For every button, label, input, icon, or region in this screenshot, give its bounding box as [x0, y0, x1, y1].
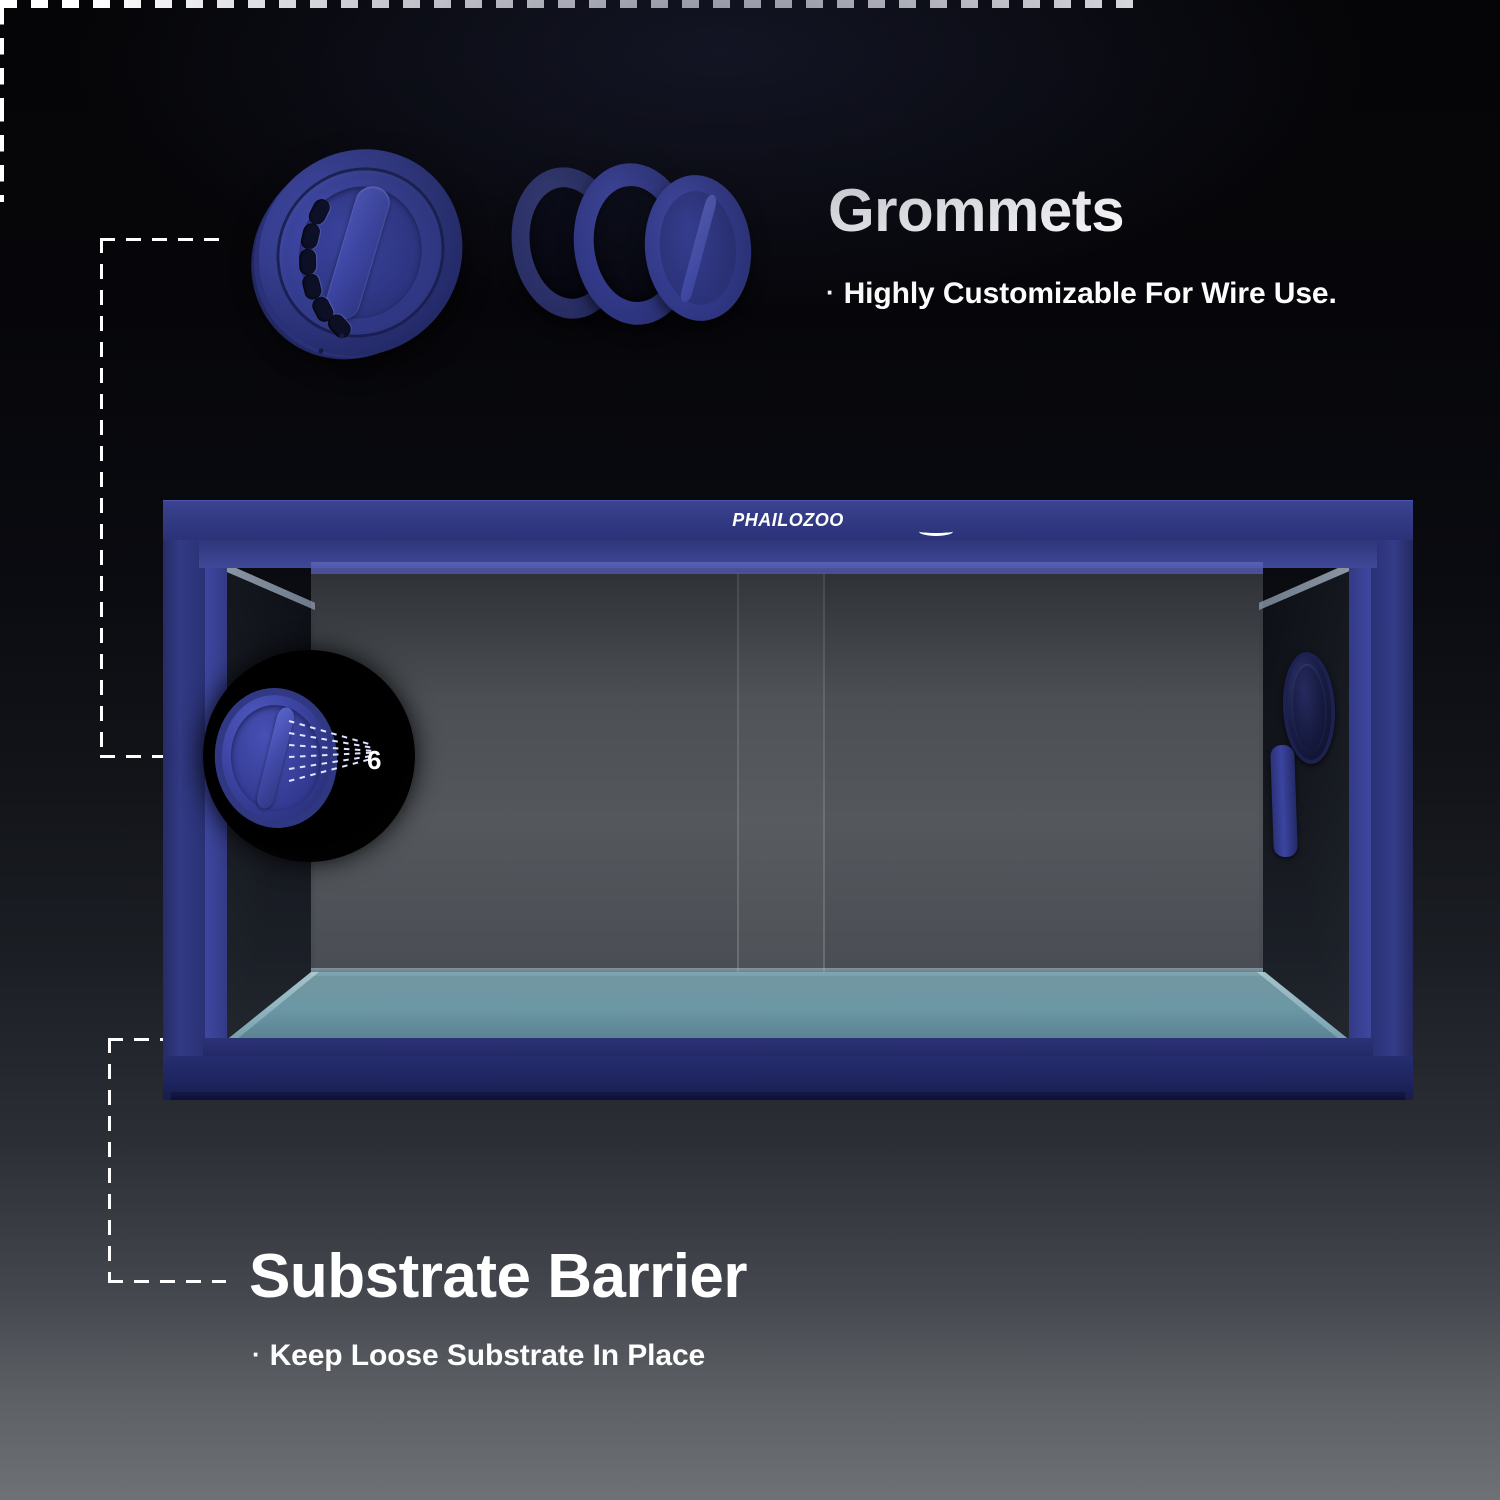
substrate-barrier-outline-right	[0, 105, 4, 202]
substrate-callout-bracket-left	[108, 1038, 111, 1283]
tank-base-lip	[171, 1092, 1405, 1100]
substrate-callout-bracket-bottom	[108, 1280, 226, 1283]
grommet-slot-count-label: 6	[367, 745, 381, 776]
grommet-cap-icon	[250, 136, 471, 369]
grommet-rings-icon	[512, 163, 752, 338]
substrate-heading: Substrate Barrier	[249, 1246, 747, 1308]
tank-glass-door-seam	[823, 572, 825, 972]
grommets-heading: Grommets	[828, 181, 1124, 241]
tank-right-post	[1371, 540, 1413, 1100]
substrate-barrier-outline-left	[0, 8, 4, 105]
grommet-callout-bracket-top	[100, 238, 220, 241]
grommet-wire-slot	[299, 248, 316, 275]
tank-ceiling-highlight	[311, 562, 1263, 574]
grommet-cap-pin	[318, 348, 323, 354]
bullet-marker: ·	[826, 277, 835, 307]
substrate-barrier-outline-bottom	[0, 4, 1140, 8]
substrate-bullet: ·Keep Loose Substrate In Place	[252, 1341, 705, 1371]
bullet-marker: ·	[252, 1339, 261, 1369]
brand-logo-swoosh	[919, 527, 953, 536]
brand-logo: PHAILOZOO	[163, 510, 1413, 531]
tank-right-inner-post	[1349, 564, 1371, 1076]
grommets-bullet: ·Highly Customizable For Wire Use.	[826, 279, 1337, 309]
grommet-callout-bracket-left	[100, 238, 103, 758]
substrate-bullet-text: Keep Loose Substrate In Place	[270, 1339, 706, 1372]
tank-door-handle	[1270, 745, 1298, 858]
tank-top-rail: PHAILOZOO	[163, 500, 1413, 540]
magnified-grommet	[208, 682, 344, 834]
grommets-bullet-text: Highly Customizable For Wire Use.	[844, 277, 1337, 310]
tank-glass-door-seam	[737, 572, 739, 972]
tank-left-post	[163, 540, 205, 1100]
magnifier-icon: 6	[203, 650, 415, 862]
tank-glass-door-panel	[739, 572, 823, 972]
product-feature-graphic: Grommets ·Highly Customizable For Wire U…	[0, 0, 1500, 1500]
